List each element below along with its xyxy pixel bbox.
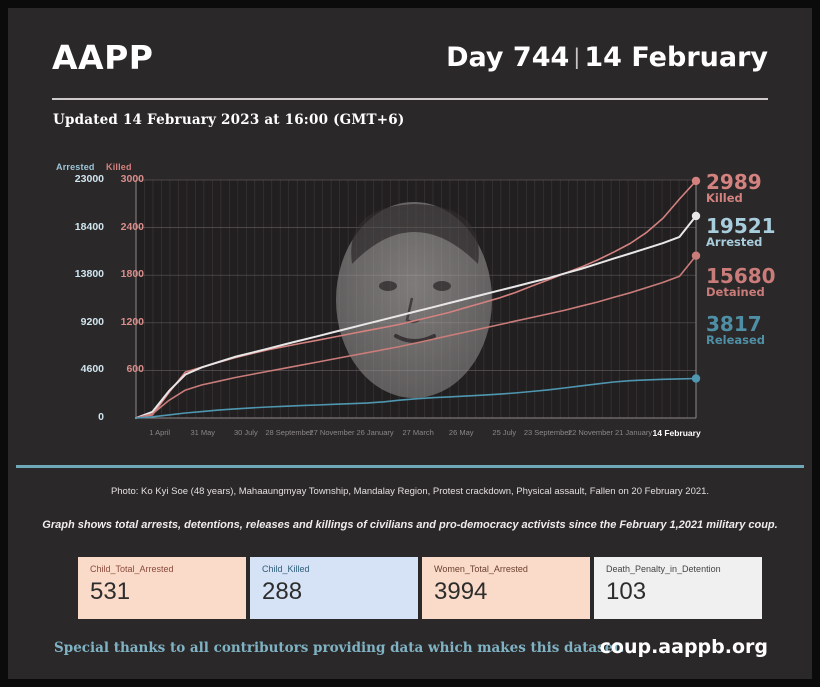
y-tick-right: 1800 [108, 268, 144, 280]
annotation-detained: 15680Detained [706, 266, 776, 299]
stat-box: Child_Killed288 [250, 557, 418, 619]
annotation-label: Detained [706, 287, 776, 299]
annotation-value: 2989 [706, 172, 762, 192]
poster-panel: AAPP Day 744|14 February Updated 14 Febr… [8, 8, 812, 679]
organization-title: AAPP [52, 38, 153, 77]
annotation-label: Released [706, 335, 765, 347]
stat-key: Child_Total_Arrested [90, 564, 246, 574]
header-divider [52, 98, 768, 100]
series-endpoint-killed [692, 177, 700, 185]
y-axis-left-title: Arrested [56, 162, 95, 172]
y-tick-right: 1200 [108, 316, 144, 328]
y-tick-right: 3000 [108, 173, 144, 185]
series-endpoint-released [692, 374, 700, 382]
graph-description: Graph shows total arrests, detentions, r… [8, 519, 812, 531]
y-axis-right-title: Killed [106, 162, 132, 172]
stat-box: Death_Penalty_in_Detention103 [594, 557, 762, 619]
annotation-value: 15680 [706, 266, 776, 286]
timeseries-chart: Arrested Killed 230001840013800920046000… [44, 158, 784, 448]
stat-box: Child_Total_Arrested531 [78, 557, 246, 619]
stat-key: Death_Penalty_in_Detention [606, 564, 762, 574]
y-tick-right: 600 [108, 363, 144, 375]
stat-box: Women_Total_Arrested3994 [422, 557, 590, 619]
victim-photo [336, 202, 492, 398]
series-endpoint-detained [692, 252, 700, 260]
day-date-title: Day 744|14 February [446, 42, 768, 73]
section-divider [16, 465, 804, 468]
annotation-label: Arrested [706, 237, 776, 249]
title-separator: | [569, 45, 584, 69]
series-endpoint-arrested [692, 212, 700, 220]
y-tick-left: 23000 [48, 173, 104, 185]
stat-key: Child_Killed [262, 564, 418, 574]
y-tick-left: 18400 [48, 221, 104, 233]
photo-caption: Photo: Ko Kyi Soe (48 years), Mahaaungmy… [8, 486, 812, 497]
stat-boxes: Child_Total_Arrested531Child_Killed288Wo… [78, 557, 762, 619]
annotation-value: 19521 [706, 216, 776, 236]
y-tick-left: 0 [48, 411, 104, 423]
annotation-value: 3817 [706, 314, 765, 334]
annotation-released: 3817Released [706, 314, 765, 347]
y-tick-left: 13800 [48, 268, 104, 280]
y-tick-left: 9200 [48, 316, 104, 328]
stat-value: 3994 [434, 578, 590, 606]
date-label: 14 February [584, 42, 768, 73]
annotation-label: Killed [706, 193, 762, 205]
stat-key: Women_Total_Arrested [434, 564, 590, 574]
x-tick-label: 14 February [642, 428, 712, 438]
website-label: coup.aappb.org [600, 636, 768, 658]
stat-value: 288 [262, 578, 418, 606]
annotation-arrested: 19521Arrested [706, 216, 776, 249]
annotation-killed: 2989Killed [706, 172, 762, 205]
stat-value: 531 [90, 578, 246, 606]
y-tick-right: 2400 [108, 221, 144, 233]
header: AAPP Day 744|14 February [52, 36, 768, 96]
stat-value: 103 [606, 578, 762, 606]
thanks-text: Special thanks to all contributors provi… [54, 640, 624, 656]
chart-plot-area [44, 158, 784, 448]
updated-timestamp: Updated 14 February 2023 at 16:00 (GMT+6… [53, 112, 404, 128]
y-tick-left: 4600 [48, 363, 104, 375]
day-count-label: Day 744 [446, 42, 569, 73]
